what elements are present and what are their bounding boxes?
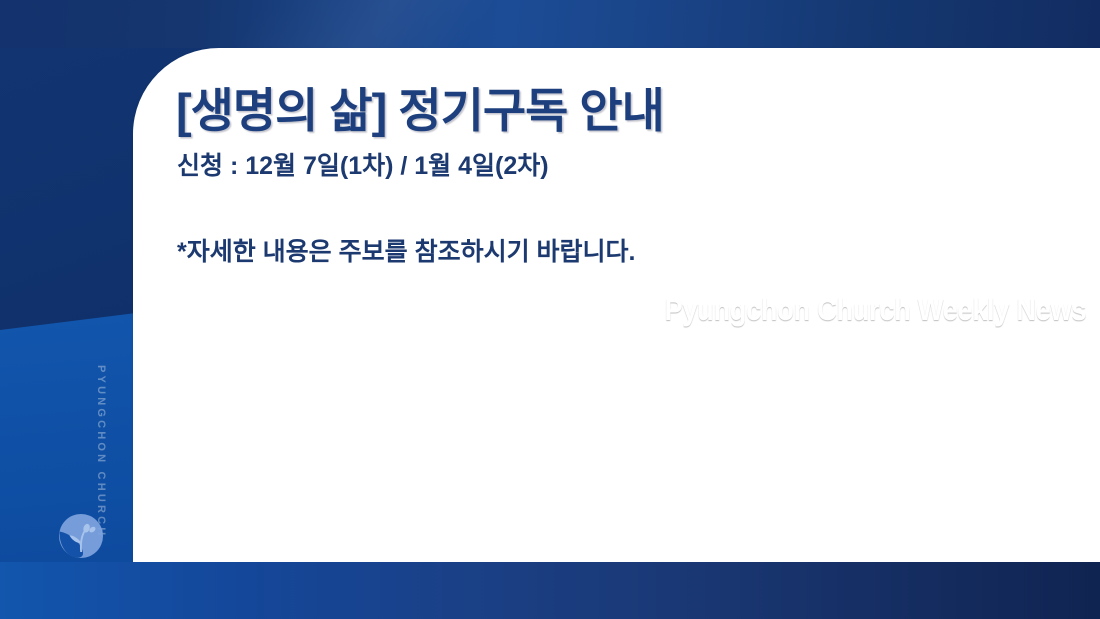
footer-title: Pyungchon Church Weekly News (664, 292, 1086, 328)
page-title: [생명의 삶] 정기구독 안내 (176, 72, 664, 141)
pyungchon-church-flower-logo-icon (57, 512, 105, 560)
footer-bar (0, 562, 1100, 619)
header-bar (0, 0, 1100, 48)
body-line-application-dates: 신청 : 12월 7일(1차) / 1월 4일(2차) (177, 148, 1037, 184)
slide-canvas: 2025년 12월 1주 소식 PYUNGCHON CHURCH [생명의 삶]… (0, 0, 1100, 619)
header-diagonal-stripe (237, 0, 493, 48)
body-line-bulletin-note: *자세한 내용은 주보를 참조하시기 바랍니다. (177, 234, 1037, 270)
content-body: 신청 : 12월 7일(1차) / 1월 4일(2차) *자세한 내용은 주보를… (177, 148, 1037, 271)
